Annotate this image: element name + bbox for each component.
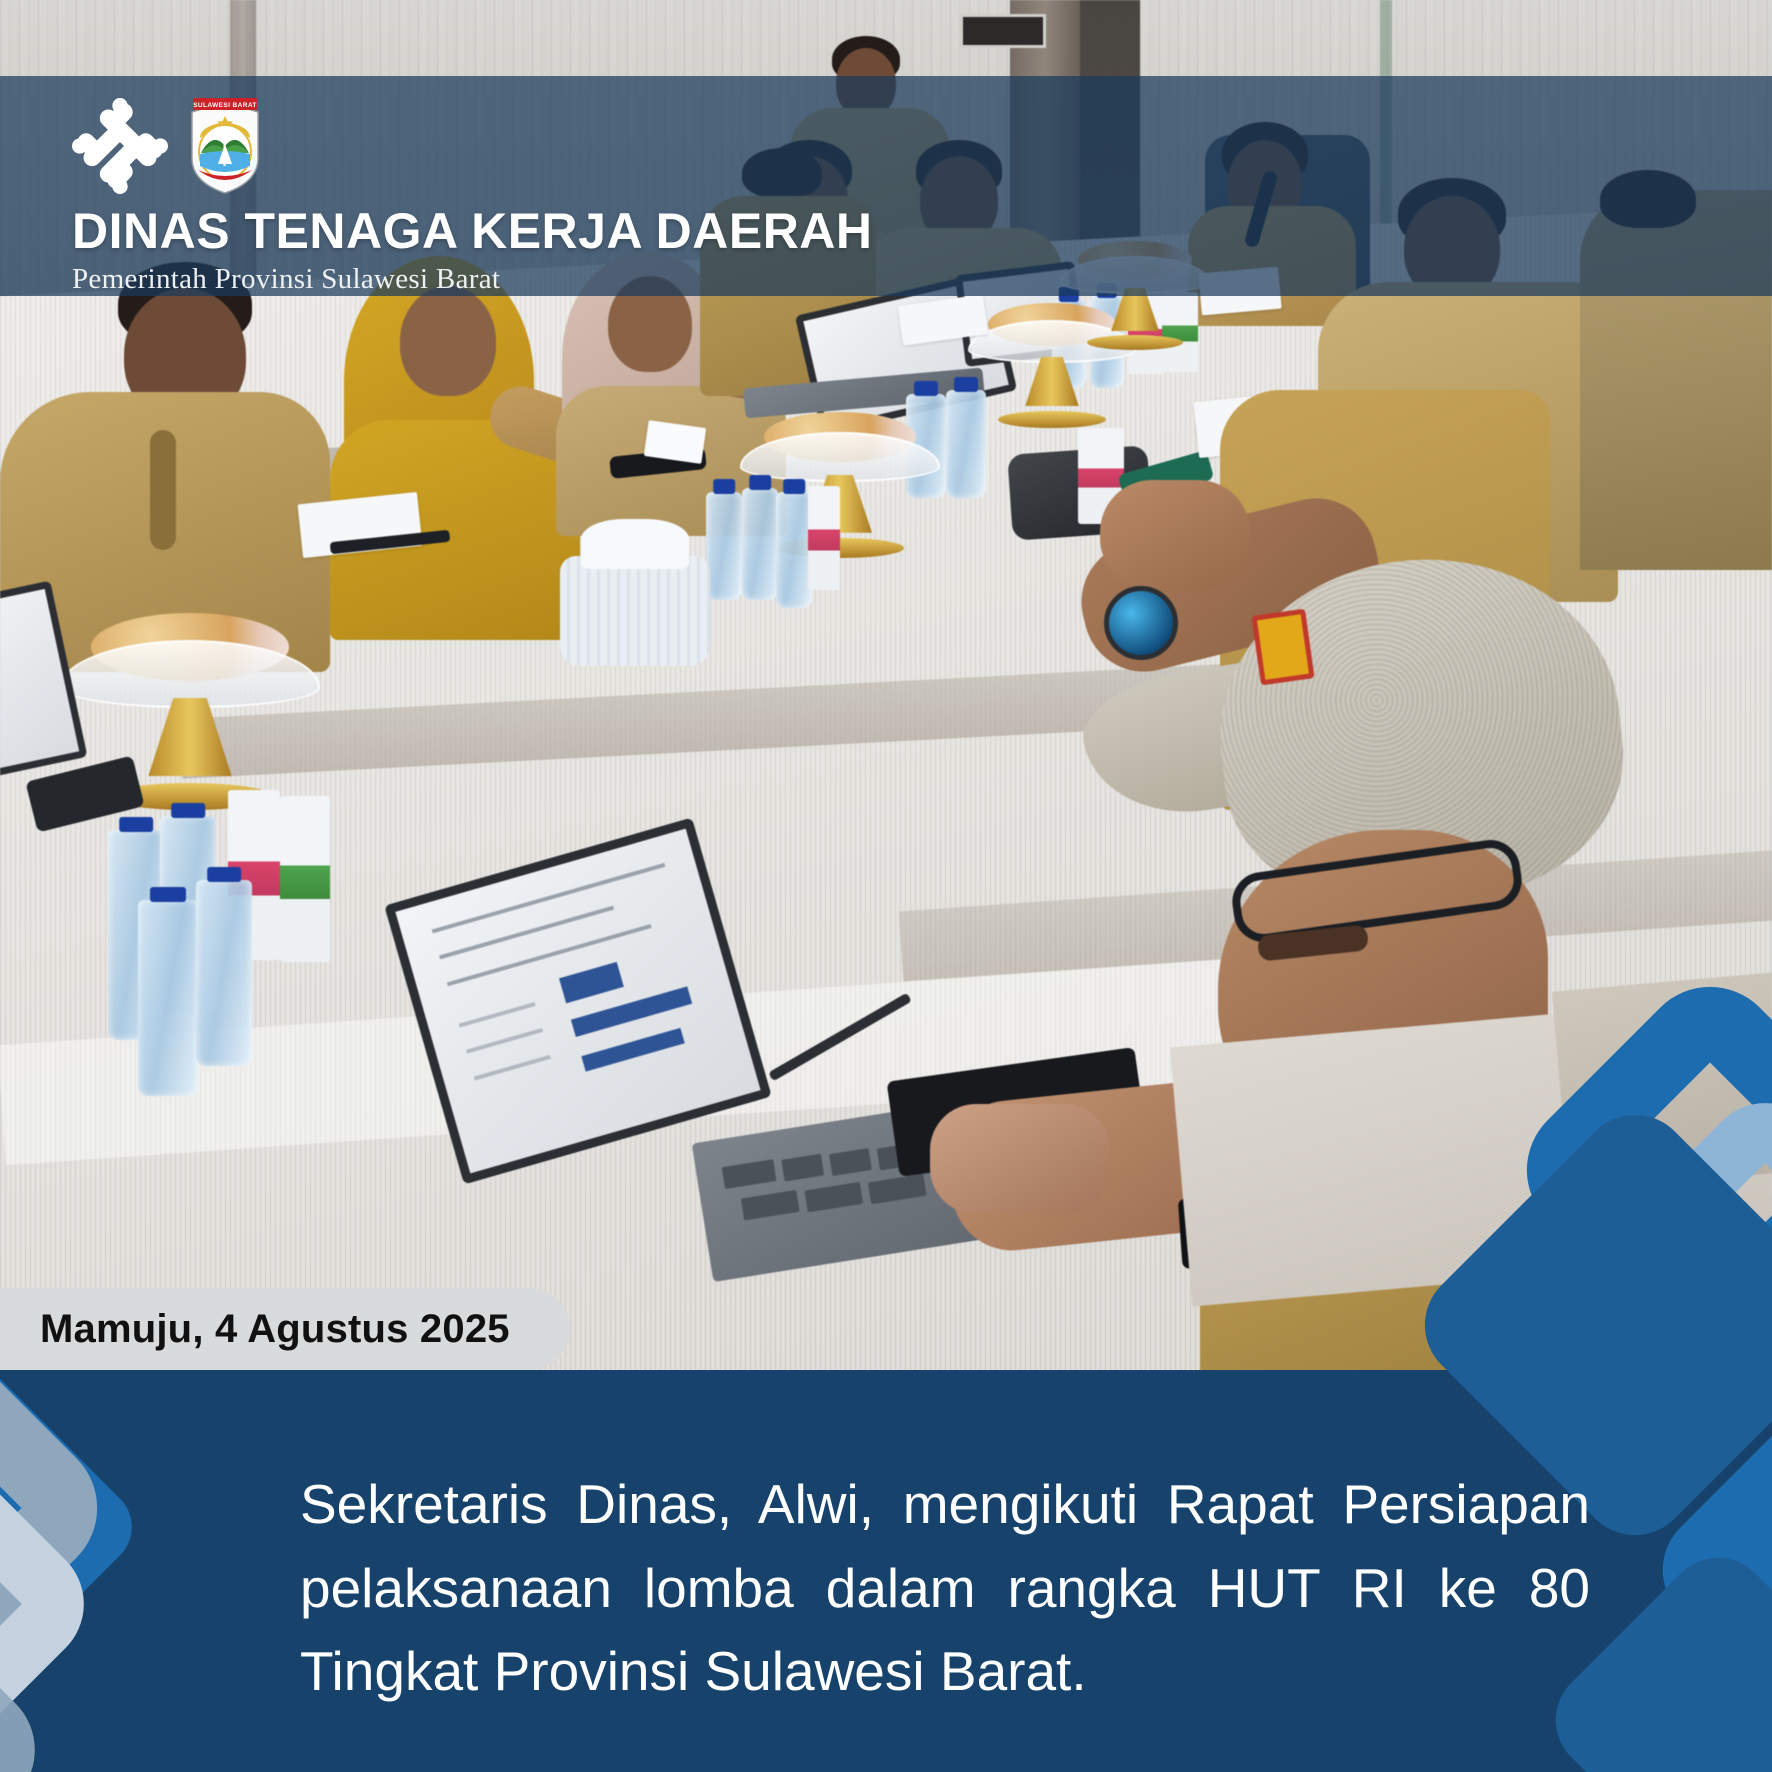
- water-bottle: [138, 900, 198, 1096]
- water-bottle: [196, 880, 252, 1066]
- date-badge: Mamuju, 4 Agustus 2025: [0, 1288, 570, 1370]
- water-bottle: [946, 390, 986, 498]
- emblem-banner-text: SULAWESI BARAT: [193, 102, 257, 109]
- header-overlay-band: SULAWESI BARAT DINAS TENAGA KERJA DAERAH…: [0, 76, 1772, 296]
- water-bottle: [776, 492, 812, 608]
- sulawesi-barat-provincial-emblem: SULAWESI BARAT: [186, 96, 264, 196]
- cap-badge: [1251, 609, 1314, 686]
- water-bottle: [706, 492, 742, 600]
- wall-sign: [960, 14, 1046, 48]
- social-media-poster: SULAWESI BARAT DINAS TENAGA KERJA DAERAH…: [0, 0, 1772, 1772]
- clasped-hands: [1100, 480, 1250, 590]
- logo-row: SULAWESI BARAT: [72, 94, 873, 198]
- org-subtitle: Pemerintah Provinsi Sulawesi Barat: [72, 263, 873, 296]
- dinas-weave-logo: [72, 98, 168, 194]
- milk-carton: [808, 486, 840, 590]
- wristwatch: [1104, 586, 1178, 660]
- milk-carton: [280, 796, 330, 962]
- caption-text: Sekretaris Dinas, Alwi, mengikuti Rapat …: [300, 1463, 1590, 1714]
- tissue-box: [560, 556, 710, 666]
- date-text: Mamuju, 4 Agustus 2025: [40, 1307, 510, 1352]
- water-bottle: [742, 488, 778, 600]
- page-title: DINAS TENAGA KERJA DAERAH: [72, 206, 873, 256]
- typing-hand: [930, 1104, 1110, 1214]
